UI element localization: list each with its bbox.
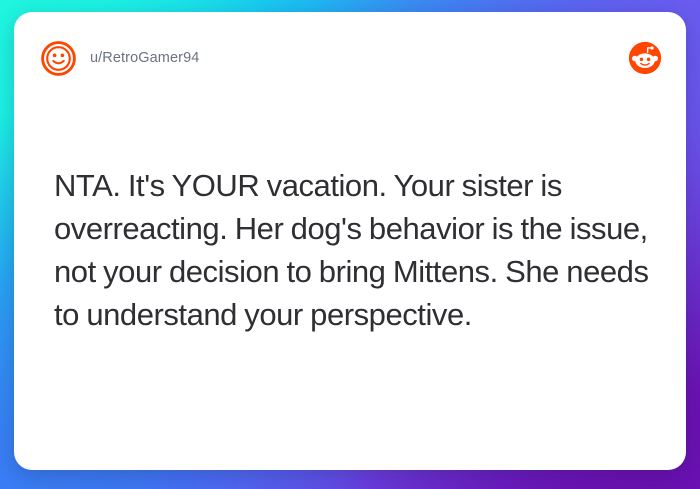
author-username: u/RetroGamer94 bbox=[90, 50, 199, 66]
reddit-snoo-logo-icon[interactable] bbox=[628, 41, 662, 75]
author-block[interactable]: u/RetroGamer94 bbox=[40, 40, 199, 77]
card-header: u/RetroGamer94 bbox=[14, 12, 686, 104]
card-body: NTA. It's YOUR vacation. Your sister is … bbox=[54, 164, 676, 336]
comment-text: NTA. It's YOUR vacation. Your sister is … bbox=[54, 164, 676, 336]
reddit-comment-card: u/RetroGamer94 NTA. It's Y bbox=[14, 12, 686, 470]
smiley-face-avatar-icon[interactable] bbox=[40, 40, 77, 77]
gradient-background: u/RetroGamer94 NTA. It's Y bbox=[0, 0, 700, 489]
